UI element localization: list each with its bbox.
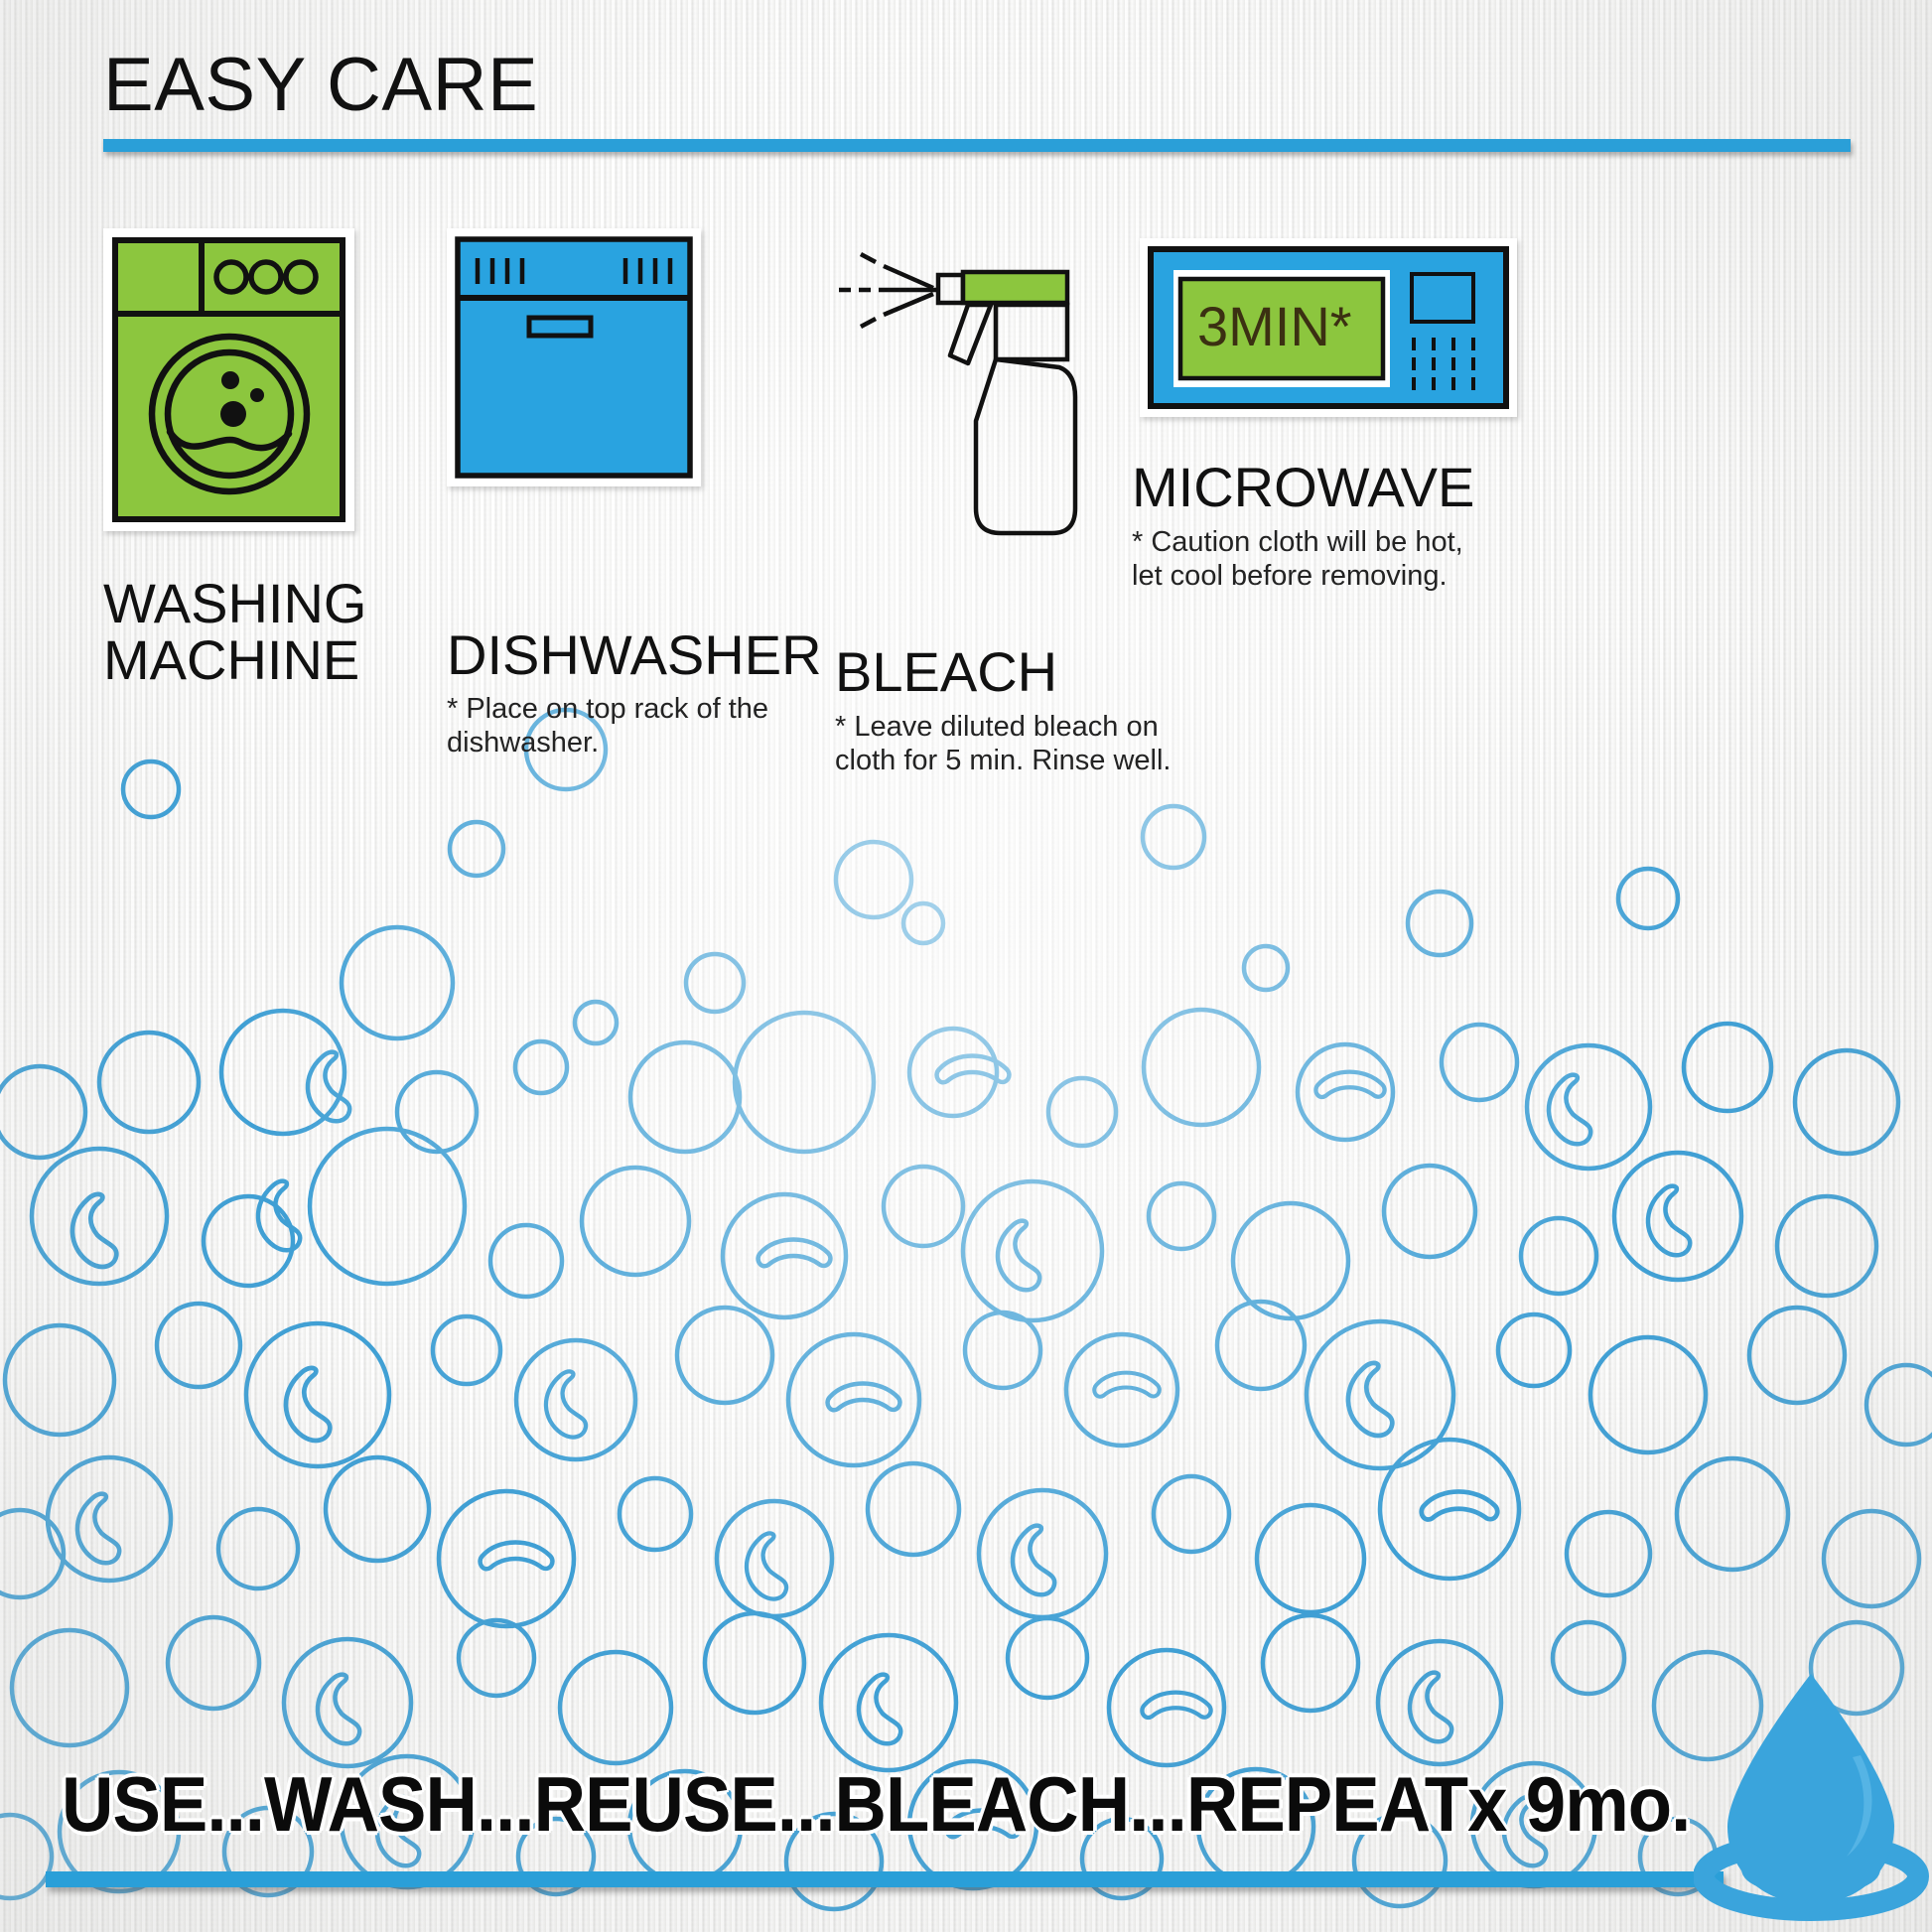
care-label-bleach: BLEACH (835, 643, 1206, 700)
spray-bottle-icon (829, 228, 1087, 546)
care-item-dishwasher: DISHWASHER * Place on top rack of the di… (447, 228, 844, 760)
microwave-icon-frame: 3MIN* (1140, 238, 1517, 417)
dishwasher-icon (455, 236, 693, 479)
microwave-icon: 3MIN* (1148, 246, 1509, 409)
water-droplet-logo (1694, 1660, 1932, 1932)
washing-machine-icon-frame (103, 228, 354, 531)
spray-bottle-icon-frame (829, 228, 1087, 546)
header: EASY CARE (103, 48, 1851, 152)
care-item-microwave: 3MIN* M (1132, 238, 1588, 594)
care-note-bleach: * Leave diluted bleach on cloth for 5 mi… (835, 710, 1206, 777)
footer-divider (46, 1871, 1724, 1887)
care-label-microwave: MICROWAVE (1132, 459, 1588, 515)
microwave-display-text: 3MIN* (1197, 295, 1352, 357)
footer-tagline: USE...WASH...REUSE...BLEACH...REPEATx 9m… (62, 1759, 1690, 1850)
dishwasher-icon-frame (447, 228, 701, 486)
washing-machine-icon (112, 237, 345, 522)
care-label-washing-machine: WASHING MACHINE (103, 575, 481, 688)
care-note-microwave: * Caution cloth will be hot, let cool be… (1132, 525, 1588, 593)
care-item-washing-machine: WASHING MACHINE (103, 228, 481, 688)
infographic-page: EASY CARE WASHING MACHINE (0, 0, 1932, 1932)
title-divider (103, 139, 1851, 152)
page-title: EASY CARE (103, 48, 1851, 123)
care-note-dishwasher: * Place on top rack of the dishwasher. (447, 692, 844, 759)
care-label-dishwasher: DISHWASHER (447, 626, 844, 683)
